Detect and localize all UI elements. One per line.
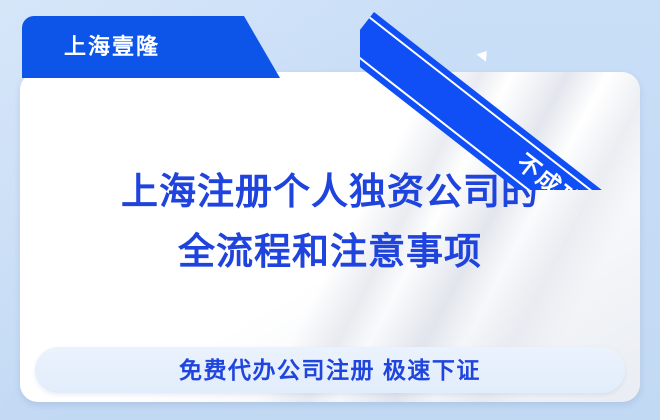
footer-pill-label: 免费代办公司注册 极速下证 <box>179 359 481 382</box>
content-card: 上海注册个人独资公司的 全流程和注意事项 免费代办公司注册 极速下证 <box>20 72 640 402</box>
brand-tab-label: 上海壹隆 <box>64 36 160 58</box>
triangle-up-icon <box>477 47 492 61</box>
page-title: 上海注册个人独资公司的 全流程和注意事项 <box>20 162 640 282</box>
title-line-1: 上海注册个人独资公司的 <box>20 162 640 222</box>
footer-pill-banner[interactable]: 免费代办公司注册 极速下证 <box>35 347 625 393</box>
poster-canvas: 上海注册个人独资公司的 全流程和注意事项 免费代办公司注册 极速下证 上海壹隆 … <box>0 0 660 420</box>
title-line-2: 全流程和注意事项 <box>20 222 640 282</box>
brand-tab-content: 上海壹隆 <box>22 16 262 78</box>
